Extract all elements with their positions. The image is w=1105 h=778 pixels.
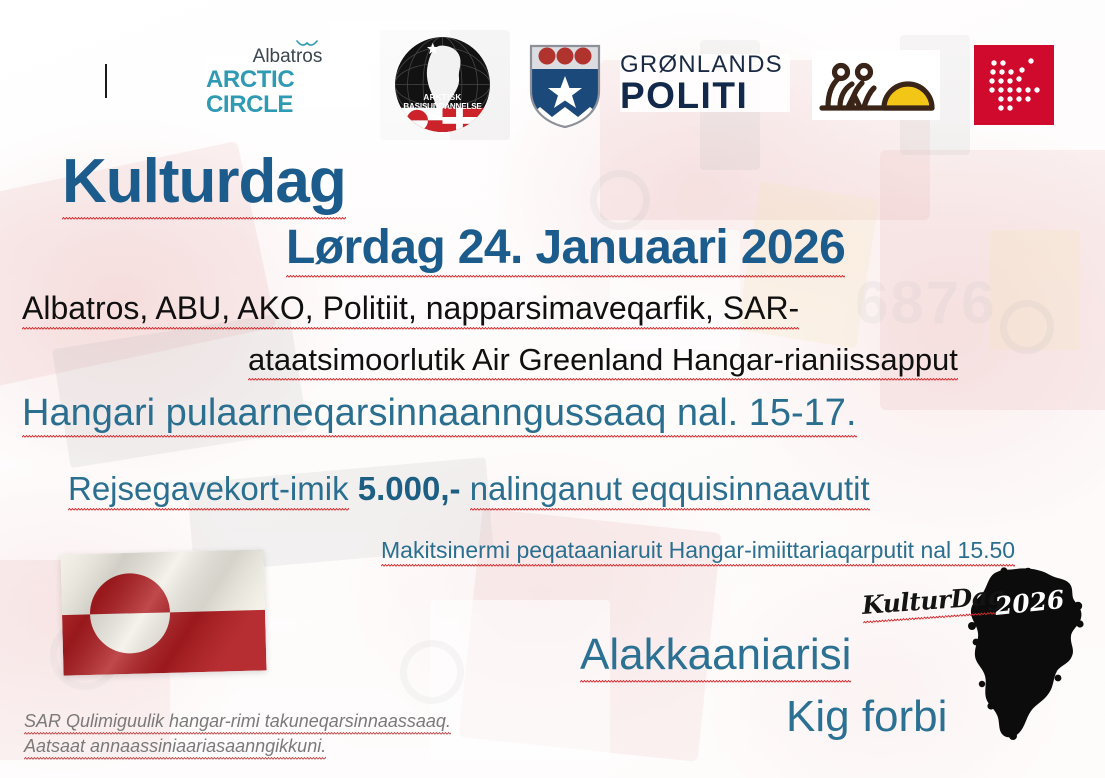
footnote-line-1-text: SAR Qulimiguulik hangar-rimi takuneqarsi…	[24, 711, 451, 735]
gronlands-politi-wordmark: GRØNLANDS POLITI	[620, 54, 790, 112]
seagull-icon	[296, 40, 318, 48]
abu-emblem-icon: ARKTISK BASISUDDANNELSE	[394, 36, 491, 133]
dotted-arrow-icon	[974, 45, 1054, 125]
logo-strip: Albatros ARCTIC CIRCLE	[0, 34, 1105, 136]
sun-and-people-icon	[812, 50, 940, 120]
organizers-line-1: Albatros, ABU, AKO, Politiit, napparsima…	[22, 290, 799, 327]
politi-coat-of-arms-icon	[528, 43, 602, 129]
event-date-text: Lørdag 24. Januaari 2026	[286, 221, 845, 278]
cta-danish-text: Kig forbi	[786, 692, 947, 741]
voucher-suffix-text: nalinganut eqquisinnaavutit	[470, 470, 870, 511]
kommune-sun-logo	[812, 50, 940, 120]
voucher-prefix-text: Rejsegavekort-imik	[68, 470, 349, 511]
footnote-line-2-text: Aatsaat annaassiniaariasaanngikkuni.	[24, 736, 326, 760]
red-dotted-square-logo	[974, 45, 1054, 125]
politi-bottom-text: POLITI	[620, 77, 748, 114]
page-title: Kulturdag	[62, 146, 346, 217]
voucher-amount-text: 5.000,-	[358, 470, 461, 507]
footnote-line-2: Aatsaat annaassiniaariasaanngikkuni.	[24, 736, 326, 757]
event-date: Lørdag 24. Januaari 2026	[286, 220, 845, 275]
voucher-prize-line: Rejsegavekort-imik 5.000,- nalinganut eq…	[68, 470, 870, 508]
hangar-opening-hours: Hangari pulaarneqarsinnaanngussaaq nal. …	[22, 392, 857, 435]
organizers-line-1-text: Albatros, ABU, AKO, Politiit, napparsima…	[22, 290, 799, 330]
greenland-flag	[60, 549, 266, 675]
albatros-arctic-circle-logo: Albatros ARCTIC CIRCLE	[206, 56, 369, 108]
raffle-note: Makitsinermi peqataaniaruit Hangar-imiit…	[381, 537, 1015, 564]
svg-text:ARKTISK: ARKTISK	[423, 93, 461, 102]
footnote-line-1: SAR Qulimiguulik hangar-rimi takuneqarsi…	[24, 711, 451, 732]
greenland-flag-image	[60, 549, 266, 675]
albatros-top-text: Albatros	[253, 46, 323, 67]
organizers-line-2-text: ataatsimoorlutik Air Greenland Hangar-ri…	[248, 342, 958, 381]
svg-text:BASISUDDANNELSE: BASISUDDANNELSE	[403, 102, 482, 111]
politi-top-text: GRØNLANDS	[620, 53, 783, 77]
hangar-opening-hours-text: Hangari pulaarneqarsinnaanngussaaq nal. …	[22, 392, 857, 438]
arctic-circle-text: ARCTIC CIRCLE	[206, 67, 369, 117]
organizers-line-2: ataatsimoorlutik Air Greenland Hangar-ri…	[248, 342, 958, 378]
cta-greenlandic: Alakkaaniarisi	[580, 630, 851, 680]
title-text: Kulturdag	[62, 147, 346, 220]
poster-canvas: 6876 Albatros ARCTIC CIRCLE	[0, 0, 1105, 778]
cta-greenlandic-text: Alakkaaniarisi	[580, 630, 851, 683]
politi-shield-icon	[528, 44, 602, 128]
cta-danish: Kig forbi	[786, 692, 947, 742]
albatros-wordmark-top: Albatros	[253, 47, 323, 66]
arktisk-basisuddannelse-logo: ARKTISK BASISUDDANNELSE	[394, 36, 491, 133]
raffle-note-text: Makitsinermi peqataaniaruit Hangar-imiit…	[381, 537, 1015, 567]
